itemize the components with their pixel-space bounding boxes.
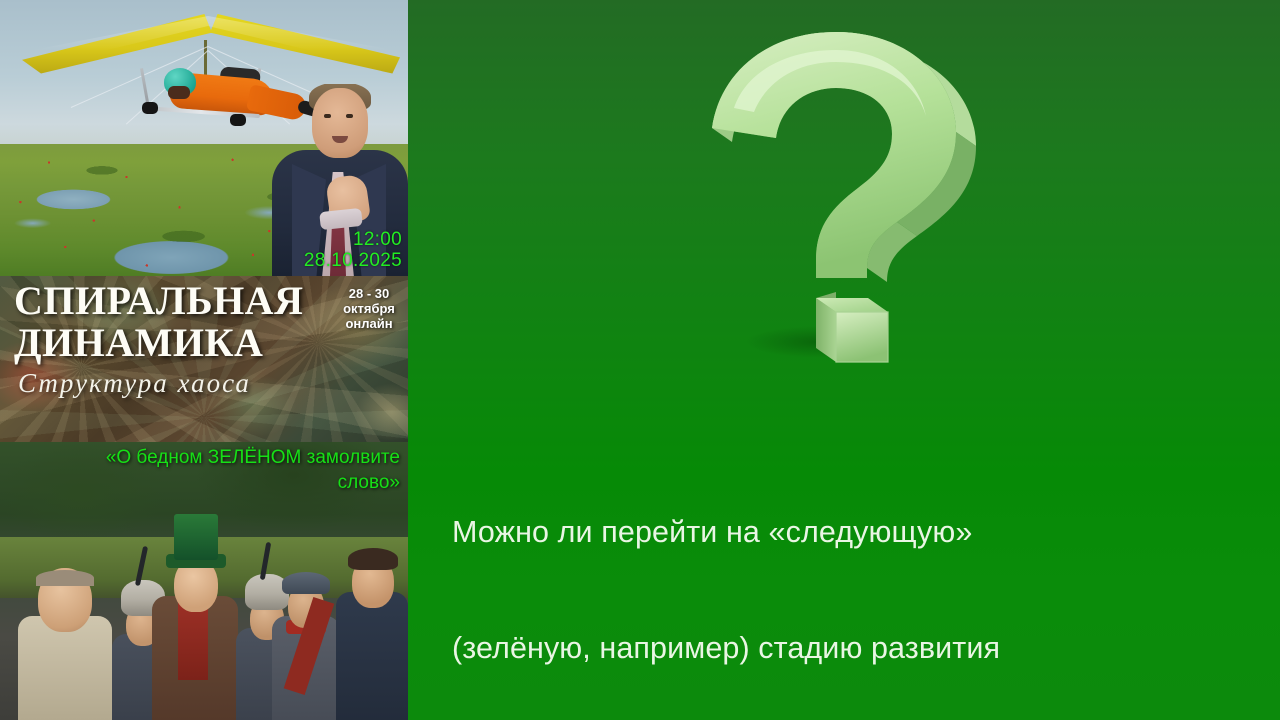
pilot-face: [168, 86, 190, 99]
poster-date-badge: 28 - 30 октября онлайн: [336, 286, 402, 331]
top-hat-crown: [174, 514, 218, 560]
poster-badge-month: октября: [336, 301, 402, 316]
figure-hair: [36, 570, 94, 586]
speaker-head: [312, 88, 368, 158]
question-line-1: Можно ли перейти на «следующую»: [452, 513, 1272, 552]
poster-badge-format: онлайн: [336, 316, 402, 331]
film-still-photo: «О бедном ЗЕЛЁНОМ замолвите слово»: [0, 442, 408, 720]
poster-badge-dates: 28 - 30: [336, 286, 402, 301]
main-question-text: Можно ли перейти на «следующую» (зелёную…: [452, 436, 1272, 720]
poster-subtitle: Структура хаоса: [18, 368, 251, 399]
speaker-eye-right: [346, 114, 353, 118]
poster-title: СПИРАЛЬНАЯ ДИНАМИКА: [14, 280, 303, 364]
film-caption-line-1: «О бедном ЗЕЛЁНОМ замолвите: [6, 445, 400, 470]
poster-title-line-2: ДИНАМИКА: [14, 322, 303, 364]
presentation-slide: 12:00 28.10.2025 СПИРАЛЬНАЯ ДИНАМИКА Стр…: [0, 0, 1280, 720]
speaker-eye-left: [324, 114, 331, 118]
film-caption-line-2: слово»: [6, 470, 400, 495]
figure-hair: [348, 548, 398, 570]
film-caption: «О бедном ЗЕЛЁНОМ замолвите слово»: [6, 445, 400, 495]
left-image-column: 12:00 28.10.2025 СПИРАЛЬНАЯ ДИНАМИКА Стр…: [0, 0, 408, 720]
poster-title-line-1: СПИРАЛЬНАЯ: [14, 280, 303, 322]
pilot-glove-left: [142, 102, 158, 114]
question-mark-3d-icon: [686, 24, 1016, 364]
photo-timestamp-date: 28.10.2025: [304, 251, 402, 271]
spiral-dynamics-poster: СПИРАЛЬНАЯ ДИНАМИКА Структура хаоса 28 -…: [0, 276, 408, 442]
pilot-glove-right: [230, 114, 246, 126]
photo-timestamp-time: 12:00: [353, 230, 402, 250]
figure-body: [336, 592, 408, 720]
figure-cap: [282, 572, 330, 594]
figure-scarf: [178, 602, 208, 680]
hang-glider-photo: 12:00 28.10.2025: [0, 0, 408, 276]
question-line-2: (зелёную, например) стадию развития: [452, 629, 1272, 668]
